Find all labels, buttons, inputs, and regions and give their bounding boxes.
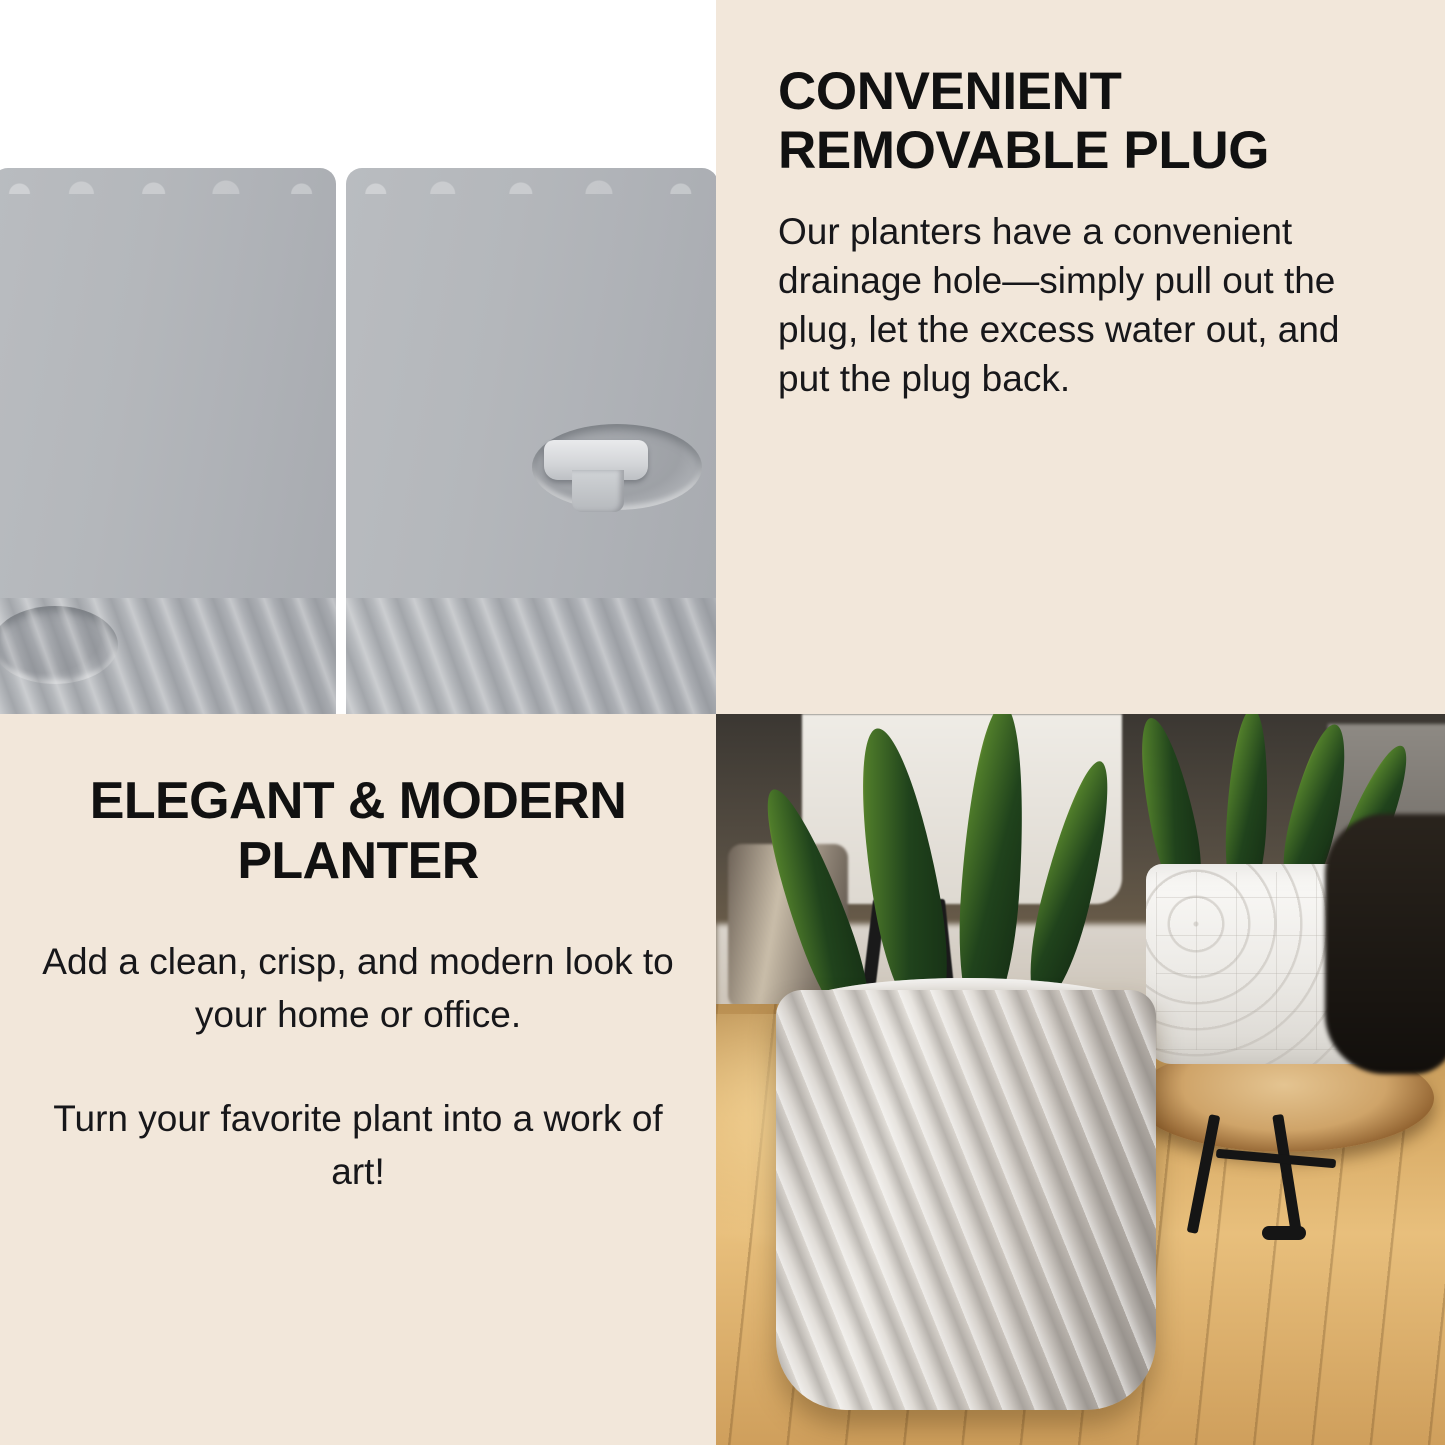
removable-plug-panel: CONVENIENT REMOVABLE PLUG Our planters h…	[716, 0, 1445, 714]
planter-ribs-left	[0, 598, 336, 714]
removable-plug-body: Our planters have a convenient drainage …	[778, 207, 1391, 404]
elegant-modern-body-1: Add a clean, crisp, and modern look to y…	[40, 936, 676, 1042]
elegant-modern-headline: ELEGANT & MODERN PLANTER	[26, 772, 690, 892]
planter-ribs-right	[346, 598, 716, 714]
removable-plug-headline: CONVENIENT REMOVABLE PLUG	[778, 62, 1391, 181]
elegant-modern-body-2: Turn your favorite plant into a work of …	[44, 1093, 672, 1199]
plug-scene	[0, 0, 716, 714]
foreground-shadow-object	[1325, 814, 1445, 1074]
lifestyle-scene	[716, 714, 1445, 1445]
product-infographic: CONVENIENT REMOVABLE PLUG Our planters h…	[0, 0, 1445, 1445]
elegant-modern-panel: ELEGANT & MODERN PLANTER Add a clean, cr…	[0, 714, 716, 1445]
lifestyle-photo	[716, 714, 1445, 1445]
planter-base-left	[0, 168, 336, 714]
plug-stem	[572, 470, 624, 512]
plug-closeup-image	[0, 0, 716, 714]
stand-legs	[1186, 1114, 1376, 1244]
grey-ribbed-planter	[776, 990, 1156, 1410]
